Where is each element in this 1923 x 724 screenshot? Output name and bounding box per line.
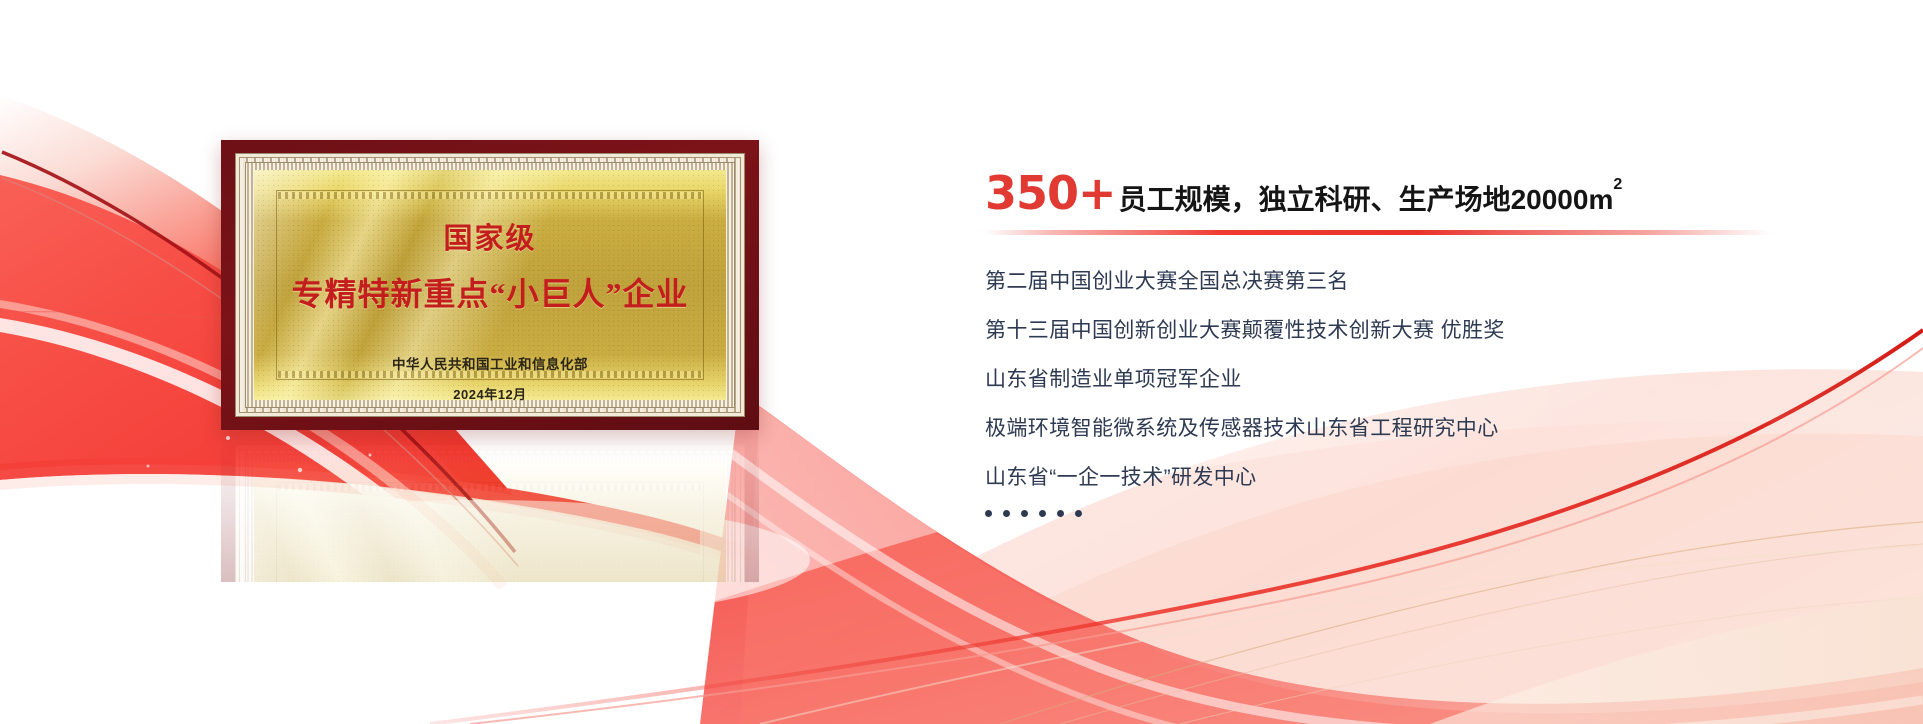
award-item: 山东省制造业单项冠军企业 xyxy=(985,369,1865,390)
award-item: 极端环境智能微系统及传感器技术山东省工程研究中心 xyxy=(985,418,1865,439)
ellipsis-dot xyxy=(1039,510,1046,517)
ellipsis-dot xyxy=(1021,510,1028,517)
plaque-title-line1: 国家级 xyxy=(443,215,536,257)
awards-list: 第二届中国创业大赛全国总决赛第三名 第十三届中国创新创业大赛颠覆性技术创新大赛 … xyxy=(985,271,1865,517)
plaque-title-line2: 专精特新重点“小巨人”企业 xyxy=(291,269,688,315)
ellipsis-dot xyxy=(1003,510,1010,517)
headline-underline xyxy=(985,230,1770,235)
banner-content: 350+ 员工规模，独立科研、生产场地20000m2 第二届中国创业大赛全国总决… xyxy=(985,170,1865,517)
headline: 350+ 员工规模，独立科研、生产场地20000m2 xyxy=(985,170,1865,216)
award-banner: 国家级 专精特新重点“小巨人”企业 中华人民共和国工业和信息化部 2024年12… xyxy=(0,0,1923,724)
ellipsis-dot xyxy=(1057,510,1064,517)
ellipsis-dot xyxy=(985,510,992,517)
plaque-date: 2024年12月 xyxy=(453,384,526,403)
headline-text: 员工规模，独立科研、生产场地20000m2 xyxy=(1119,186,1623,214)
award-item: 第十三届中国创新创业大赛颠覆性技术创新大赛 优胜奖 xyxy=(985,320,1865,341)
award-item: 第二届中国创业大赛全国总决赛第三名 xyxy=(985,271,1865,292)
award-item: 山东省“一企一技术”研发中心 xyxy=(985,467,1865,488)
headline-text-main: 员工规模，独立科研、生产场地20000m xyxy=(1119,184,1614,215)
ellipsis-dot xyxy=(1075,510,1082,517)
award-plaque: 国家级 专精特新重点“小巨人”企业 中华人民共和国工业和信息化部 2024年12… xyxy=(221,140,759,430)
plaque-text-block: 国家级 专精特新重点“小巨人”企业 中华人民共和国工业和信息化部 2024年12… xyxy=(221,140,759,430)
awards-ellipsis xyxy=(985,510,1865,517)
plaque-issuer: 中华人民共和国工业和信息化部 xyxy=(392,353,588,373)
headline-number: 350+ xyxy=(985,170,1116,216)
headline-superscript: 2 xyxy=(1613,176,1622,193)
